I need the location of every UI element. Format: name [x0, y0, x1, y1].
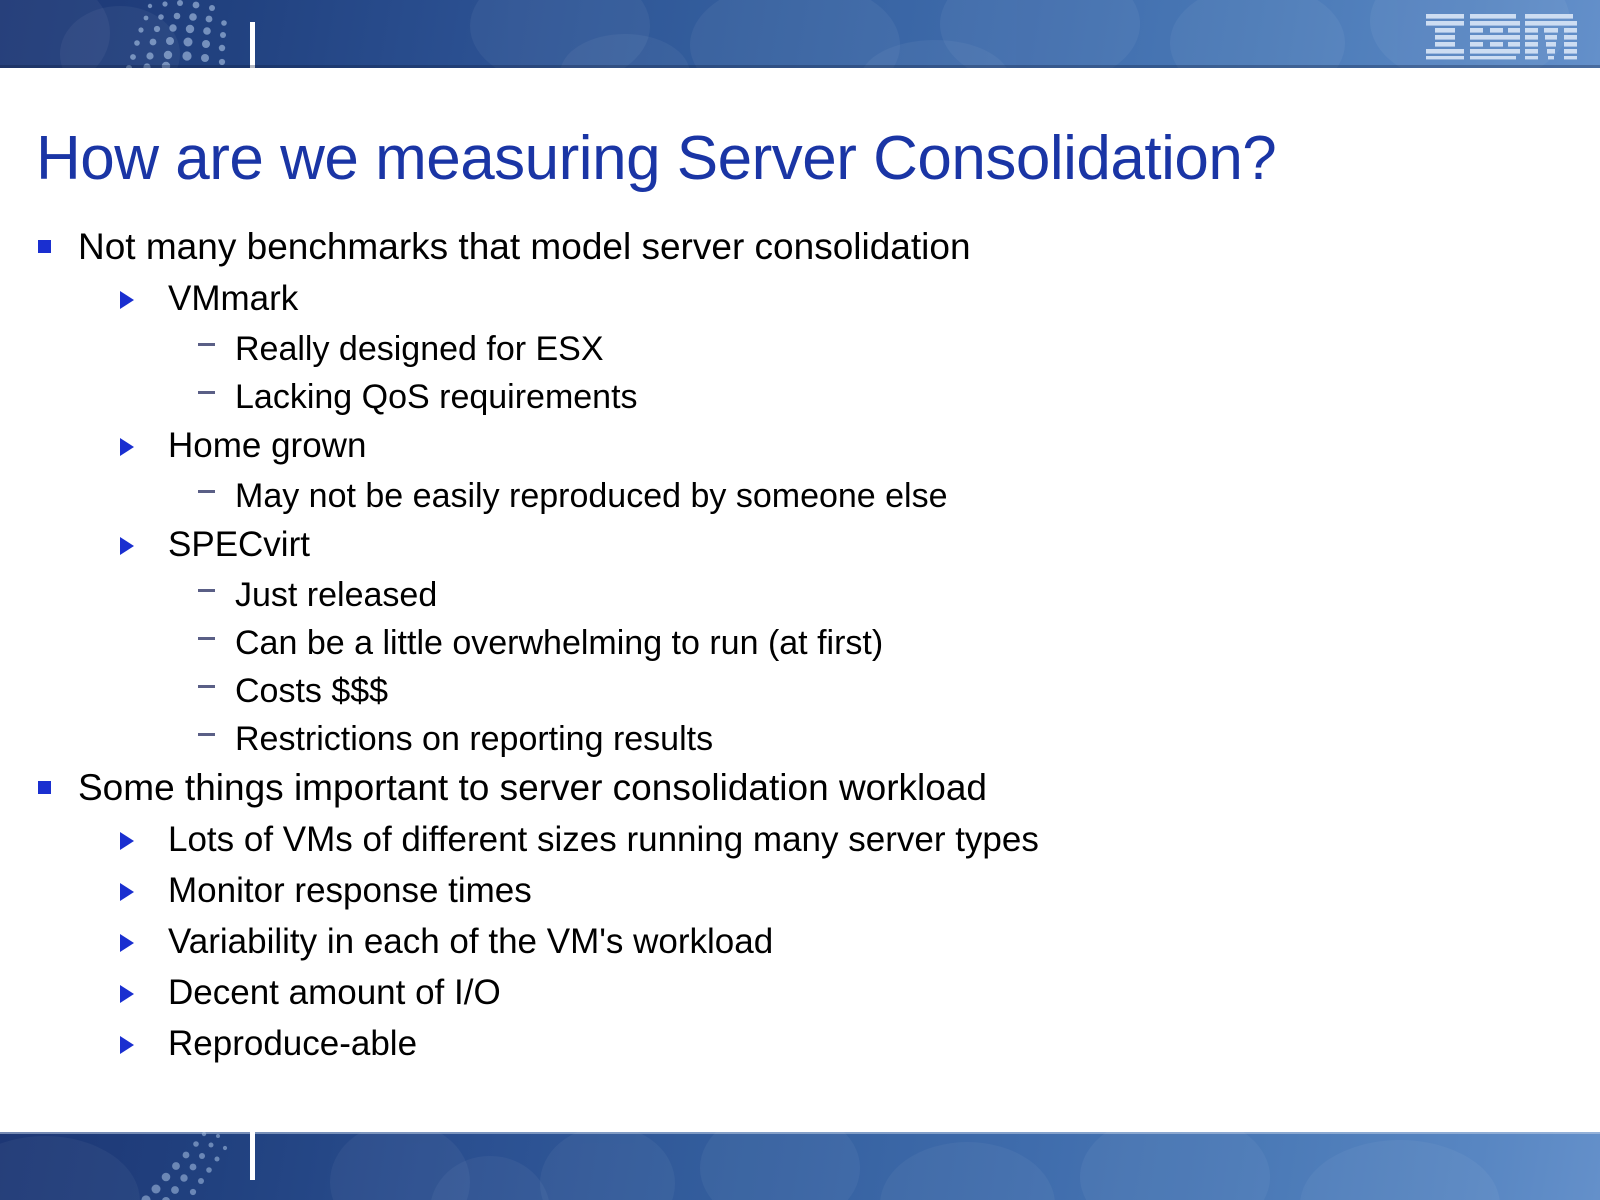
triangle-bullet-icon [120, 520, 168, 555]
bullet-item-level-2: Reproduce-able [0, 1019, 1560, 1069]
bullet-text: VMmark [168, 274, 298, 324]
bullet-item-level-1: Some things important to server consolid… [0, 763, 1560, 813]
dash-bullet-icon [198, 667, 235, 688]
bullet-text: Lacking QoS requirements [235, 373, 638, 421]
bullet-item-level-2: Monitor response times [0, 866, 1560, 916]
bullet-item-level-3: Just released [0, 571, 1560, 619]
bullet-text: Reproduce-able [168, 1019, 417, 1069]
bullet-text: Costs $$$ [235, 667, 388, 715]
bullet-item-level-2: Home grown [0, 421, 1560, 471]
header-accent-bar [250, 22, 255, 68]
bullet-text: Variability in each of the VM's workload [168, 917, 773, 967]
bullet-text: Not many benchmarks that model server co… [78, 222, 971, 272]
bullet-text: Can be a little overwhelming to run (at … [235, 619, 883, 667]
bullet-text: May not be easily reproduced by someone … [235, 472, 948, 520]
dash-bullet-icon [198, 715, 235, 736]
footer-accent-bar [250, 1132, 255, 1180]
triangle-bullet-icon [120, 968, 168, 1003]
dash-bullet-icon [198, 619, 235, 640]
square-bullet-icon [38, 222, 78, 253]
bullet-text: Decent amount of I/O [168, 968, 501, 1018]
bullet-text: Lots of VMs of different sizes running m… [168, 815, 1039, 865]
triangle-bullet-icon [120, 1019, 168, 1054]
triangle-bullet-icon [120, 917, 168, 952]
triangle-bullet-icon [120, 866, 168, 901]
bullet-item-level-1: Not many benchmarks that model server co… [0, 222, 1560, 272]
slide-body: Not many benchmarks that model server co… [0, 222, 1560, 1070]
bullet-item-level-2: VMmark [0, 274, 1560, 324]
triangle-bullet-icon [120, 274, 168, 309]
footer-dot-pattern-icon [0, 1132, 300, 1200]
triangle-bullet-icon [120, 421, 168, 456]
dash-bullet-icon [198, 571, 235, 592]
dash-bullet-icon [198, 373, 235, 394]
triangle-bullet-icon [120, 815, 168, 850]
square-bullet-icon [38, 763, 78, 794]
bullet-item-level-2: Decent amount of I/O [0, 968, 1560, 1018]
slide-header-band [0, 0, 1600, 68]
bullet-item-level-3: May not be easily reproduced by someone … [0, 472, 1560, 520]
presentation-slide: How are we measuring Server Consolidatio… [0, 0, 1600, 1200]
bullet-text: Home grown [168, 421, 366, 471]
dash-bullet-icon [198, 472, 235, 493]
bullet-item-level-3: Really designed for ESX [0, 325, 1560, 373]
bullet-text: Just released [235, 571, 437, 619]
ibm-logo-icon [1426, 12, 1578, 60]
bullet-item-level-2: Variability in each of the VM's workload [0, 917, 1560, 967]
bullet-item-level-2: SPECvirt [0, 520, 1560, 570]
bullet-text: Some things important to server consolid… [78, 763, 987, 813]
slide-footer-band [0, 1132, 1600, 1200]
bullet-item-level-3: Lacking QoS requirements [0, 373, 1560, 421]
header-dot-pattern-icon [0, 0, 300, 68]
header-bottom-rule [0, 65, 1600, 68]
dash-bullet-icon [198, 325, 235, 346]
bullet-text: Restrictions on reporting results [235, 715, 713, 763]
bullet-item-level-3: Can be a little overwhelming to run (at … [0, 619, 1560, 667]
bullet-text: Really designed for ESX [235, 325, 604, 373]
bullet-item-level-3: Restrictions on reporting results [0, 715, 1560, 763]
bullet-text: SPECvirt [168, 520, 310, 570]
slide-title: How are we measuring Server Consolidatio… [36, 122, 1536, 196]
bullet-item-level-2: Lots of VMs of different sizes running m… [0, 815, 1560, 865]
bullet-item-level-3: Costs $$$ [0, 667, 1560, 715]
bullet-text: Monitor response times [168, 866, 532, 916]
